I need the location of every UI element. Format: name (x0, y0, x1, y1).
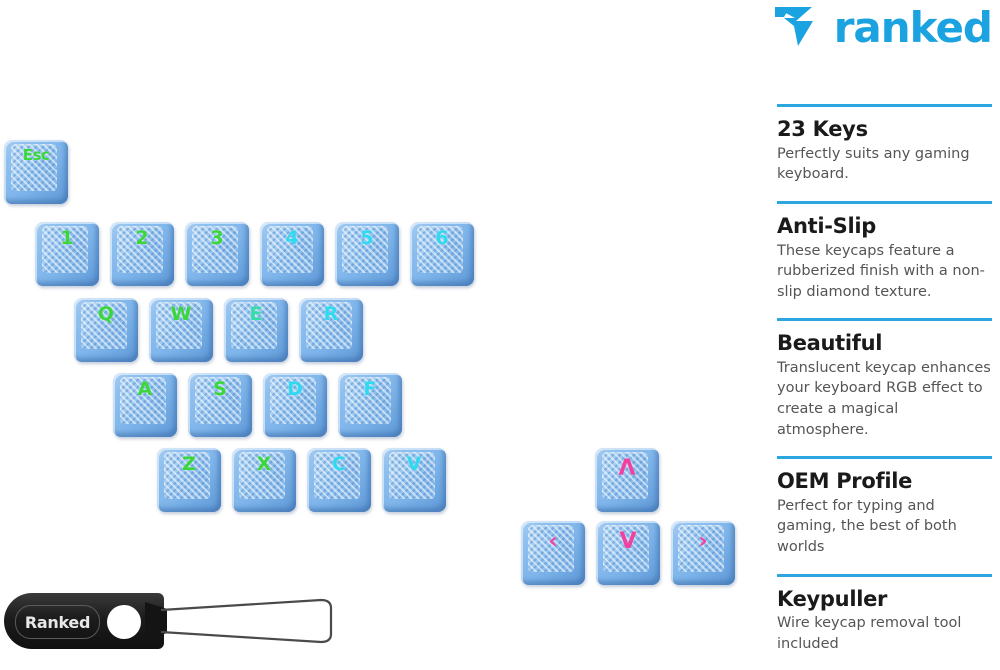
brand-logo: ranked (772, 2, 992, 53)
keycap-textured-surface (314, 452, 360, 499)
keycap-textured-surface (342, 226, 388, 273)
feature-divider (777, 574, 992, 577)
keycap-e[interactable]: E (224, 298, 288, 362)
keycap-a[interactable]: A (113, 373, 177, 437)
keycap-textured-surface (678, 525, 724, 572)
feature-description: These keycaps feature a rubberized finis… (777, 241, 992, 303)
brand-wordmark: ranked (834, 7, 992, 49)
keycap-4[interactable]: 4 (260, 222, 324, 286)
feature-description: Wire keycap removal tool included (777, 613, 992, 654)
keycap-f[interactable]: F (338, 373, 402, 437)
keycap-textured-surface (270, 377, 316, 424)
keycap-textured-surface (417, 226, 463, 273)
feature-anti-slip: Anti-SlipThese keycaps feature a rubberi… (777, 201, 992, 302)
keycap-textured-surface (603, 525, 649, 572)
keycap-1[interactable]: 1 (35, 222, 99, 286)
keycap-w[interactable]: W (149, 298, 213, 362)
keycap-c[interactable]: C (307, 448, 371, 512)
feature-description: Perfect for typing and gaming, the best … (777, 496, 992, 558)
keypuller-brand-label: Ranked (25, 613, 90, 632)
keycap-textured-surface (345, 377, 391, 424)
keycap-textured-surface (528, 525, 574, 572)
ranked-arrow-logo-icon (772, 2, 826, 53)
keycap-v[interactable]: V (382, 448, 446, 512)
feature-description: Translucent keycap enhances your keyboar… (777, 358, 992, 440)
keycap-x[interactable]: X (232, 448, 296, 512)
keycap-textured-surface (267, 226, 313, 273)
keycap-3[interactable]: 3 (185, 222, 249, 286)
keycap-textured-surface (306, 302, 352, 349)
feature-description: Perfectly suits any gaming keyboard. (777, 144, 992, 185)
keycap-textured-surface (192, 226, 238, 273)
keycap-textured-surface (195, 377, 241, 424)
keycap-arrow-up[interactable]: Λ (595, 448, 659, 512)
feature-beautiful: BeautifulTranslucent keycap enhances you… (777, 318, 992, 440)
keycap-r[interactable]: R (299, 298, 363, 362)
keycap-arrow-right[interactable]: › (671, 521, 735, 585)
feature-keypuller: KeypullerWire keycap removal tool includ… (777, 574, 992, 655)
keycap-textured-surface (11, 144, 57, 191)
keycap-textured-surface (117, 226, 163, 273)
keycap-textured-surface (164, 452, 210, 499)
keycap-display-area: Esc123456QWERASDFZXCVΛ‹V› (0, 0, 760, 600)
keycap-d[interactable]: D (263, 373, 327, 437)
keypuller-tool: Ranked (4, 588, 334, 654)
keycap-arrow-left[interactable]: ‹ (521, 521, 585, 585)
feature-divider (777, 318, 992, 321)
keycap-textured-surface (231, 302, 277, 349)
keycap-q[interactable]: Q (74, 298, 138, 362)
keycap-esc[interactable]: Esc (4, 140, 68, 204)
keypuller-finger-ring (107, 605, 141, 639)
keycap-z[interactable]: Z (157, 448, 221, 512)
feature-title: 23 Keys (777, 118, 992, 141)
keycap-5[interactable]: 5 (335, 222, 399, 286)
keycap-textured-surface (239, 452, 285, 499)
feature-oem-profile: OEM ProfilePerfect for typing and gaming… (777, 456, 992, 557)
keycap-s[interactable]: S (188, 373, 252, 437)
feature-title: Beautiful (777, 332, 992, 355)
feature-23-keys: 23 KeysPerfectly suits any gaming keyboa… (777, 104, 992, 185)
keycap-textured-surface (42, 226, 88, 273)
keycap-textured-surface (120, 377, 166, 424)
keypuller-body: Ranked (4, 593, 164, 649)
feature-divider (777, 104, 992, 107)
keycap-2[interactable]: 2 (110, 222, 174, 286)
keycap-6[interactable]: 6 (410, 222, 474, 286)
keycap-textured-surface (156, 302, 202, 349)
feature-divider (777, 201, 992, 204)
feature-divider (777, 456, 992, 459)
feature-list: 23 KeysPerfectly suits any gaming keyboa… (777, 104, 992, 670)
keycap-textured-surface (81, 302, 127, 349)
feature-title: Keypuller (777, 588, 992, 611)
keypuller-brand-oval: Ranked (15, 605, 100, 639)
feature-title: OEM Profile (777, 470, 992, 493)
keycap-arrow-down[interactable]: V (596, 521, 660, 585)
feature-title: Anti-Slip (777, 215, 992, 238)
keycap-textured-surface (389, 452, 435, 499)
keycap-textured-surface (602, 452, 648, 499)
keypuller-wire-loop-icon (159, 588, 339, 659)
